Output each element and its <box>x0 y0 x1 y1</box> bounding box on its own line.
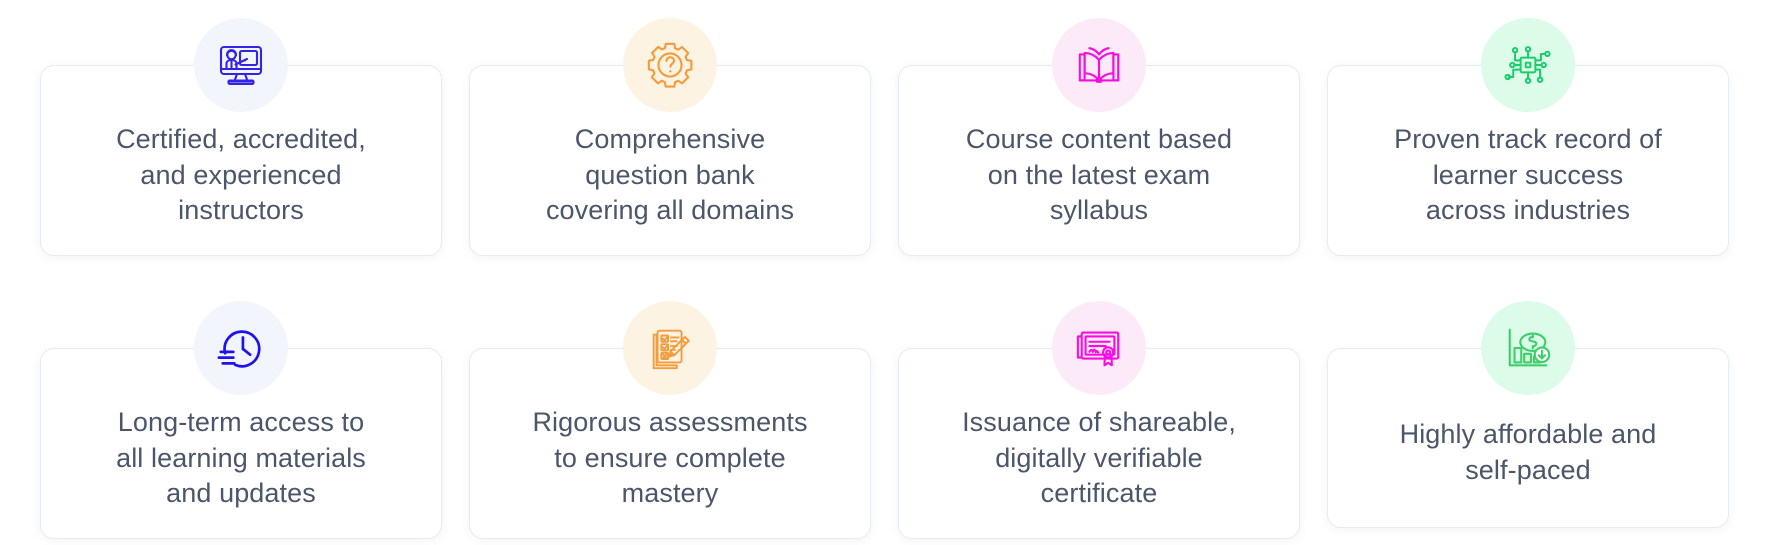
open-book-icon <box>1074 40 1124 90</box>
cost-chart-dollar-icon-badge <box>1481 301 1575 395</box>
feature-card-affordable[interactable]: Highly affordable and self-paced <box>1327 301 1729 539</box>
feature-card-certificate[interactable]: Issuance of shareable, digitally verifia… <box>898 301 1300 539</box>
gear-question-icon-badge <box>623 18 717 112</box>
feature-row-2: Long-term access to all learning materia… <box>40 301 1729 539</box>
feature-row-1: Certified, accredited, and experienced i… <box>40 18 1729 256</box>
feature-text: Long-term access to all learning materia… <box>116 405 366 512</box>
clock-speed-icon <box>216 323 266 373</box>
checklist-pencil-icon-badge <box>623 301 717 395</box>
instructor-presentation-icon-badge <box>194 18 288 112</box>
course-feature-highlights: Certified, accredited, and experienced i… <box>0 0 1769 545</box>
certificate-seal-icon <box>1074 323 1124 373</box>
feature-card-track-record[interactable]: Proven track record of learner success a… <box>1327 18 1729 256</box>
feature-card-question-bank[interactable]: Comprehensive question bank covering all… <box>469 18 871 256</box>
feature-text: Issuance of shareable, digitally verifia… <box>962 405 1236 512</box>
open-book-icon-badge <box>1052 18 1146 112</box>
feature-text: Highly affordable and self-paced <box>1400 417 1657 488</box>
instructor-presentation-icon <box>215 39 267 91</box>
feature-text: Rigorous assessments to ensure complete … <box>532 405 807 512</box>
cost-chart-dollar-icon <box>1503 323 1553 373</box>
feature-card-instructors[interactable]: Certified, accredited, and experienced i… <box>40 18 442 256</box>
feature-card-syllabus[interactable]: Course content based on the latest exam … <box>898 18 1300 256</box>
feature-card-long-term-access[interactable]: Long-term access to all learning materia… <box>40 301 442 539</box>
feature-text: Proven track record of learner success a… <box>1394 122 1662 229</box>
feature-card-assessments[interactable]: Rigorous assessments to ensure complete … <box>469 301 871 539</box>
clock-speed-icon-badge <box>194 301 288 395</box>
feature-text: Certified, accredited, and experienced i… <box>116 122 366 229</box>
feature-text: Comprehensive question bank covering all… <box>546 122 794 229</box>
circuit-chip-icon-badge <box>1481 18 1575 112</box>
certificate-seal-icon-badge <box>1052 301 1146 395</box>
circuit-chip-icon <box>1504 41 1552 89</box>
feature-text: Course content based on the latest exam … <box>966 122 1232 229</box>
gear-question-icon <box>645 40 695 90</box>
checklist-pencil-icon <box>645 323 695 373</box>
